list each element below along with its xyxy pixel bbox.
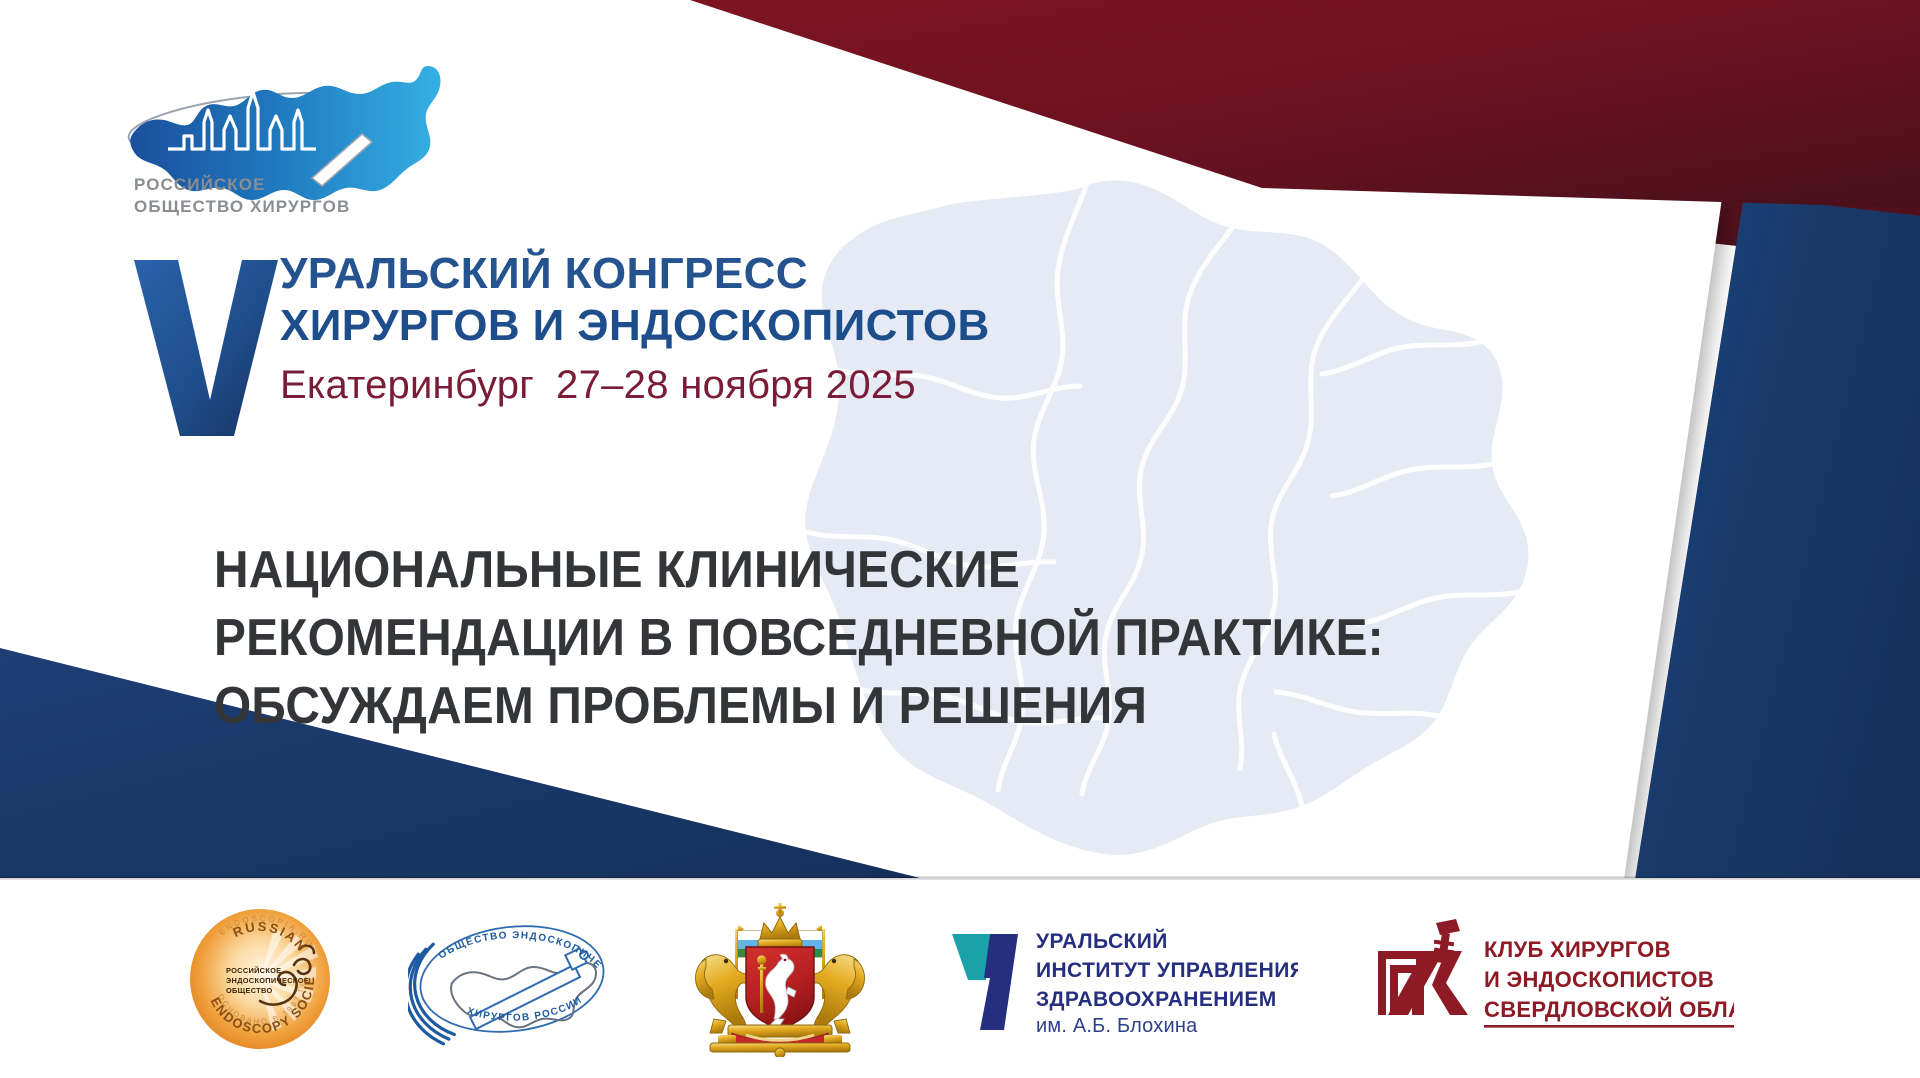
ural-institute-mark — [952, 934, 1018, 1030]
society-logo-line1: РОССИЙСКОЕ — [134, 175, 266, 194]
coat-of-arms-icon — [688, 901, 872, 1057]
partner-russian-endoscopy-society: РОССИЙСКОЕ ЭНДОСКОПИЧЕСКОЕ ОБЩЕСТВО ENDO… — [186, 904, 334, 1054]
partner-society-of-endoscopic-surgeons: ОБЩЕСТВО ЭНДОСКОПИЧЕСКИХ ХИРУРГОВ РОССИИ — [408, 904, 614, 1054]
partner-ural-institute-health-management: УРАЛЬСКИЙ ИНСТИТУТ УПРАВЛЕНИЯ ЗДРАВООХРА… — [946, 904, 1298, 1054]
club-line-1: КЛУБ ХИРУРГОВ — [1484, 937, 1671, 962]
congress-title-line-2: ХИРУРГОВ И ЭНДОСКОПИСТОВ — [280, 300, 1140, 352]
partner-logos-strip: РОССИЙСКОЕ ЭНДОСКОПИЧЕСКОЕ ОБЩЕСТВО ENDO… — [0, 880, 1920, 1078]
congress-numeral-v — [130, 254, 280, 436]
crown — [758, 903, 802, 948]
congress-poster: РОССИЙСКОЕ ОБЩЕСТВО ХИРУРГОВ — [0, 0, 1920, 1078]
ural-institute-line-1: УРАЛЬСКИЙ — [1036, 929, 1168, 953]
club-line-3: СВЕРДЛОВСКОЙ ОБЛАСТИ — [1484, 997, 1734, 1022]
shield — [746, 947, 814, 1029]
page-title: НАЦИОНАЛЬНЫЕ КЛИНИЧЕСКИЕ РЕКОМЕНДАЦИИ В … — [214, 536, 1520, 740]
endoscopy-center-line-1: РОССИЙСКОЕ — [226, 966, 281, 975]
swoosh-arcs — [408, 943, 454, 1047]
congress-title-line-1: УРАЛЬСКИЙ КОНГРЕСС — [280, 248, 1140, 300]
ural-institute-line-4: им. А.Б. Блохина — [1036, 1015, 1198, 1037]
russian-society-of-surgeons-logo: РОССИЙСКОЕ ОБЩЕСТВО ХИРУРГОВ — [72, 48, 444, 216]
club-monogram — [1378, 919, 1468, 1015]
society-logo-icon: РОССИЙСКОЕ ОБЩЕСТВО ХИРУРГОВ — [72, 48, 444, 216]
endoscopy-center-line-3: ОБЩЕСТВО — [226, 986, 273, 995]
partner-coat-of-arms-sverdlovsk — [688, 904, 872, 1054]
russian-endoscopy-society-logo: РОССИЙСКОЕ ЭНДОСКОПИЧЕСКОЕ ОБЩЕСТВО ENDO… — [186, 905, 334, 1053]
club-underline — [1484, 1025, 1734, 1028]
headline-line-1: НАЦИОНАЛЬНЫЕ КЛИНИЧЕСКИЕ — [214, 536, 1520, 604]
ural-institute-line-2: ИНСТИТУТ УПРАВЛЕНИЯ — [1036, 959, 1298, 982]
congress-dates: 27–28 ноября 2025 — [556, 363, 916, 407]
headline-line-3: ОБСУЖДАЕМ ПРОБЛЕМЫ И РЕШЕНИЯ — [214, 672, 1520, 740]
griffin-left — [695, 955, 750, 1033]
society-logo-line2: ОБЩЕСТВО ХИРУРГОВ — [134, 197, 350, 216]
endoscopic-surgeons-logo: ОБЩЕСТВО ЭНДОСКОПИЧЕСКИХ ХИРУРГОВ РОССИИ — [408, 911, 614, 1047]
hero-content: РОССИЙСКОЕ ОБЩЕСТВО ХИРУРГОВ — [0, 0, 1920, 878]
partner-club-surgeons-endoscopists: КЛУБ ХИРУРГОВ И ЭНДОСКОПИСТОВ СВЕРДЛОВСК… — [1372, 904, 1734, 1054]
congress-date-line: Екатеринбург27–28 ноября 2025 — [280, 361, 1140, 409]
ural-institute-line-3: ЗДРАВООХРАНЕНИЕМ — [1036, 988, 1277, 1011]
congress-city: Екатеринбург — [280, 363, 534, 407]
base-ribbon — [710, 1025, 850, 1057]
congress-title-lines: УРАЛЬСКИЙ КОНГРЕСС ХИРУРГОВ И ЭНДОСКОПИС… — [280, 248, 1140, 409]
club-surgeons-logo: КЛУБ ХИРУРГОВ И ЭНДОСКОПИСТОВ СВЕРДЛОВСК… — [1372, 917, 1734, 1041]
club-line-2: И ЭНДОСКОПИСТОВ — [1484, 967, 1714, 992]
headline-line-2: РЕКОМЕНДАЦИИ В ПОВСЕДНЕВНОЙ ПРАКТИКЕ: — [214, 604, 1520, 672]
griffin-right — [810, 955, 865, 1033]
numeral-v-icon — [130, 254, 280, 436]
ural-institute-logo: УРАЛЬСКИЙ ИНСТИТУТ УПРАВЛЕНИЯ ЗДРАВООХРА… — [946, 918, 1298, 1040]
endoscopy-center-line-2: ЭНДОСКОПИЧЕСКОЕ — [226, 976, 309, 985]
